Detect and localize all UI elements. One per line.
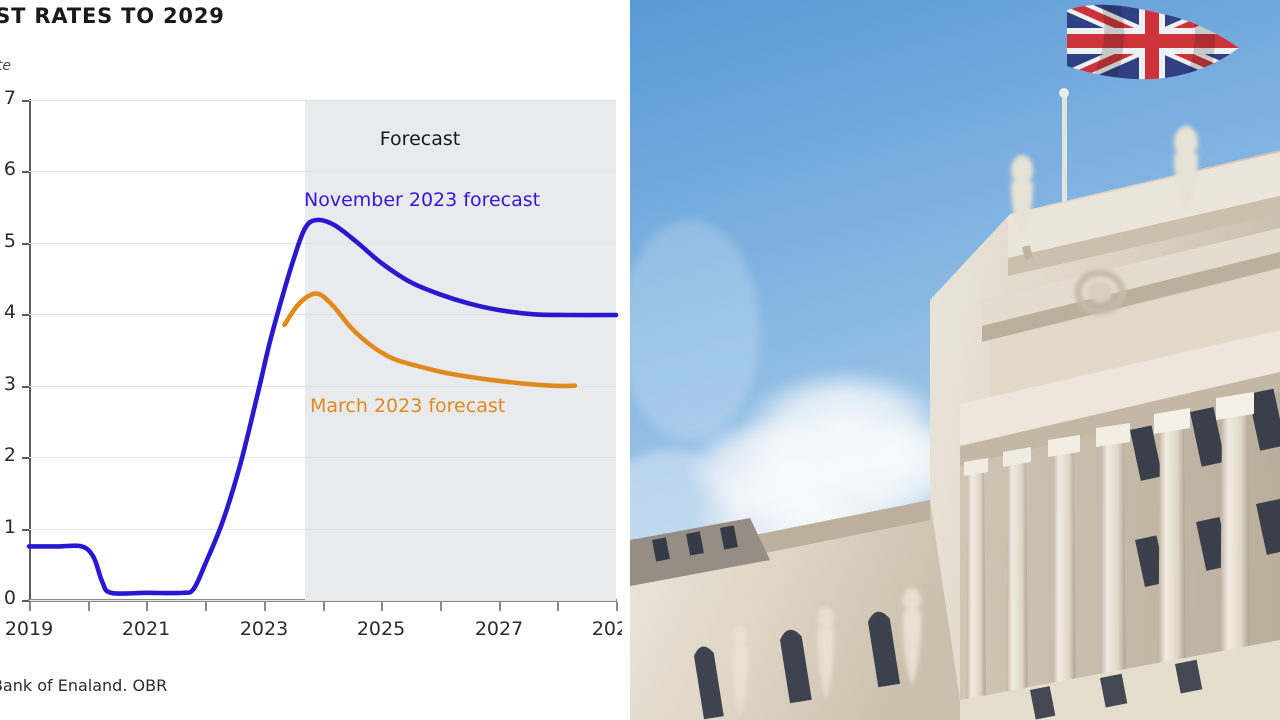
x-tick-label: 2019 (5, 618, 53, 640)
x-tick-mark (88, 602, 90, 611)
plot-area (29, 100, 616, 600)
x-tick-mark (381, 602, 383, 611)
chart-source-note: rce Bank of Enaland. OBR (0, 676, 167, 695)
x-tick-label: 2023 (240, 618, 288, 640)
y-tick-label: 2 (0, 444, 16, 466)
annotation-november-forecast: November 2023 forecast (304, 189, 540, 211)
y-tick-label: 3 (0, 373, 16, 395)
bank-of-england-photo (630, 0, 1280, 720)
x-tick-mark (29, 602, 31, 611)
y-tick-label: 6 (0, 158, 16, 180)
chart-subtitle: k rate (0, 58, 11, 74)
series-line (284, 294, 575, 386)
page-title: EREST RATES TO 2029 (0, 4, 622, 28)
y-tick-label: 7 (0, 87, 16, 109)
y-tick-label: 0 (0, 587, 16, 609)
screenshot-root: EREST RATES TO 2029 k rate 01234567 2019… (0, 0, 1280, 720)
gridline (29, 600, 616, 601)
y-tick-label: 1 (0, 516, 16, 538)
x-tick-label: 2025 (357, 618, 405, 640)
x-tick-mark (499, 602, 501, 611)
x-tick-mark (616, 602, 618, 611)
x-tick-mark (557, 602, 559, 611)
annotation-forecast: Forecast (380, 128, 460, 150)
x-tick-mark (440, 602, 442, 611)
series-lines (29, 100, 616, 600)
x-tick-label: 2027 (475, 618, 523, 640)
x-tick-mark (205, 602, 207, 611)
x-tick-mark (264, 602, 266, 611)
annotation-march-forecast: March 2023 forecast (310, 395, 505, 417)
photo-illustration (630, 0, 1280, 720)
x-tick-label: 2021 (122, 618, 170, 640)
y-tick-label: 4 (0, 301, 16, 323)
x-tick-mark (146, 602, 148, 611)
x-tick-label: 2029 (592, 618, 622, 640)
chart-panel: EREST RATES TO 2029 k rate 01234567 2019… (0, 0, 622, 720)
y-tick-label: 5 (0, 230, 16, 252)
x-tick-mark (323, 602, 325, 611)
